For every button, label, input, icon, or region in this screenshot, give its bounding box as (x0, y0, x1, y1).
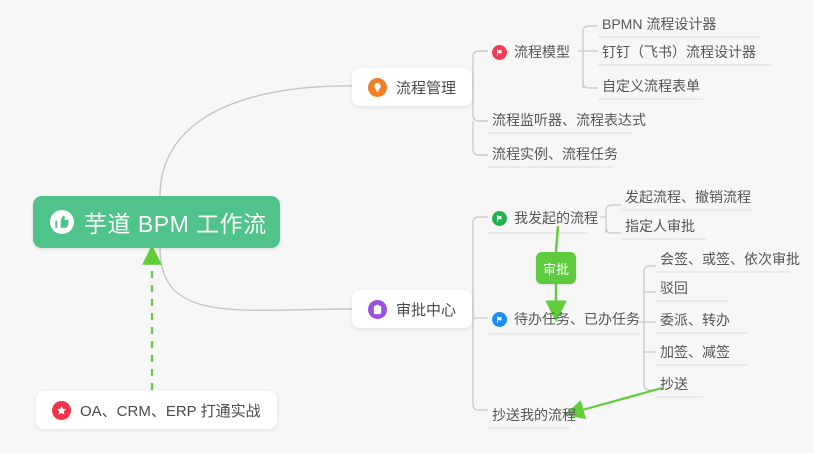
node-label: 钉钉（飞书）流程设计器 (602, 42, 756, 62)
node-label: 我发起的流程 (514, 208, 598, 228)
node-dingtalk-designer[interactable]: 钉钉（飞书）流程设计器 (600, 37, 766, 67)
node-cc[interactable]: 抄送 (658, 369, 698, 399)
node-reject[interactable]: 驳回 (658, 273, 698, 303)
node-assignee-approval[interactable]: 指定人审批 (623, 211, 705, 241)
root-node[interactable]: 芋道 BPM 工作流 (33, 196, 280, 248)
node-label: 待办任务、已办任务 (514, 309, 640, 329)
node-label: 发起流程、撤销流程 (625, 187, 751, 207)
node-start-cancel-process[interactable]: 发起流程、撤销流程 (623, 182, 761, 212)
approval-flow-tag-label: 审批 (543, 259, 569, 278)
node-label: 流程监听器、流程表达式 (492, 110, 646, 130)
clipboard-icon (368, 300, 387, 319)
bottom-note-label: OA、CRM、ERP 打通实战 (80, 400, 261, 421)
node-process-listener[interactable]: 流程监听器、流程表达式 (490, 105, 656, 135)
approval-flow-tag: 审批 (536, 252, 576, 284)
root-label: 芋道 BPM 工作流 (84, 205, 267, 239)
node-cc-to-me[interactable]: 抄送我的流程 (490, 400, 586, 430)
branch-label: 流程管理 (396, 77, 456, 98)
node-add-remove-sign[interactable]: 加签、减签 (658, 337, 740, 367)
flag-icon (492, 45, 507, 60)
bottom-note-node[interactable]: OA、CRM、ERP 打通实战 (36, 391, 277, 429)
lightbulb-icon (368, 78, 387, 97)
node-label: 自定义流程表单 (602, 76, 700, 96)
node-todo-done-tasks[interactable]: 待办任务、已办任务 (490, 304, 650, 334)
node-process-model[interactable]: 流程模型 (490, 37, 580, 67)
node-label: 会签、或签、依次审批 (660, 249, 800, 269)
branch-label: 审批中心 (396, 299, 456, 320)
star-icon (52, 401, 71, 420)
branch-process-management[interactable]: 流程管理 (352, 68, 472, 106)
node-custom-form[interactable]: 自定义流程表单 (600, 71, 710, 101)
node-label: 流程模型 (514, 42, 570, 62)
node-label: 委派、转办 (660, 310, 730, 330)
node-label: BPMN 流程设计器 (602, 14, 716, 34)
thumbs-up-icon (50, 210, 74, 234)
node-my-started-process[interactable]: 我发起的流程 (490, 203, 608, 233)
flag-icon (492, 312, 507, 327)
node-label: 抄送 (660, 374, 688, 394)
node-label: 指定人审批 (625, 216, 695, 236)
node-countersign[interactable]: 会签、或签、依次审批 (658, 244, 810, 274)
node-process-instance[interactable]: 流程实例、流程任务 (490, 139, 628, 169)
node-label: 抄送我的流程 (492, 405, 576, 425)
flag-icon (492, 211, 507, 226)
branch-approval-center[interactable]: 审批中心 (352, 290, 472, 328)
node-delegate-transfer[interactable]: 委派、转办 (658, 305, 740, 335)
mindmap-canvas: 芋道 BPM 工作流 OA、CRM、ERP 打通实战 流程管理 流程模型 BPM… (0, 0, 814, 453)
node-label: 驳回 (660, 278, 688, 298)
node-label: 流程实例、流程任务 (492, 144, 618, 164)
node-label: 加签、减签 (660, 342, 730, 362)
node-bpmn-designer[interactable]: BPMN 流程设计器 (600, 9, 726, 39)
